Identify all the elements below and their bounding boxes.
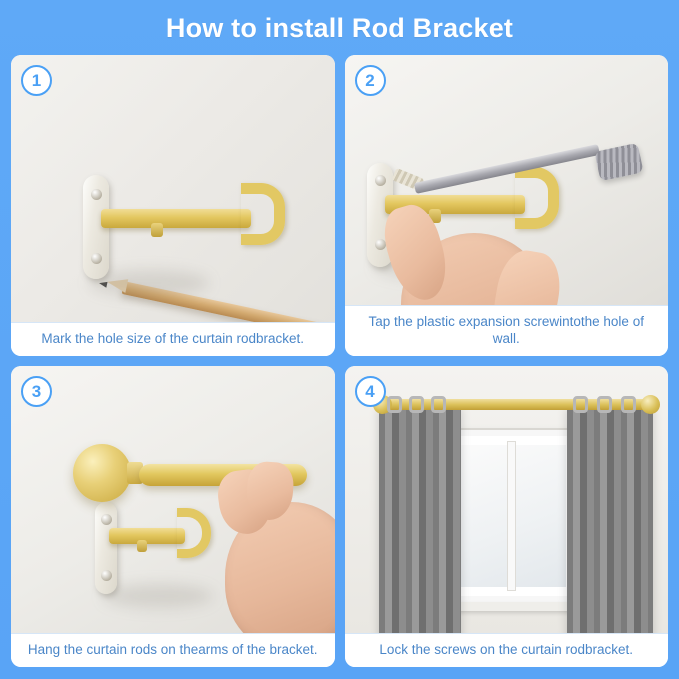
step-caption-4: Lock the screws on the curtain rodbracke…	[345, 633, 669, 667]
step-caption-1: Mark the hole size of the curtain rodbra…	[11, 322, 335, 356]
bracket-hook	[515, 167, 559, 229]
step-1-photo: 1	[11, 55, 335, 322]
bracket-screw-bottom	[375, 239, 386, 250]
finial-right	[641, 395, 660, 414]
instruction-poster: How to install Rod Bracket	[0, 0, 679, 679]
rod-bracket	[83, 165, 323, 305]
bracket-screw-bottom	[91, 253, 102, 264]
curtain-panel-right	[567, 404, 653, 633]
grommet	[573, 396, 588, 413]
bracket-arm	[101, 209, 251, 228]
page-title: How to install Rod Bracket	[0, 0, 679, 53]
grommet	[621, 396, 636, 413]
step-badge-4: 4	[355, 376, 386, 407]
rod-bracket	[95, 494, 235, 624]
step-card-4: 4 Lock the screws on the curtain rodbrac…	[345, 366, 669, 667]
bracket-arm	[109, 528, 185, 544]
step-3-photo: 3	[11, 366, 335, 633]
curtain-panel-left	[379, 404, 461, 633]
bracket-screw-bottom	[101, 570, 112, 581]
window-mullion	[508, 442, 515, 590]
bracket-screw-top	[91, 189, 102, 200]
step-caption-3: Hang the curtain rods on thearms of the …	[11, 633, 335, 667]
step-4-photo: 4	[345, 366, 669, 633]
step-caption-2: Tap the plastic expansion screwintothe h…	[345, 305, 669, 356]
step-card-1: 1 Mark the hole size of the curtain rodb…	[11, 55, 335, 356]
bracket-set-screw	[137, 540, 147, 552]
step-2-photo: 2	[345, 55, 669, 305]
step-badge-3: 3	[21, 376, 52, 407]
bracket-hook	[177, 508, 211, 558]
grommet	[431, 396, 446, 413]
grommet	[409, 396, 424, 413]
step-badge-2: 2	[355, 65, 386, 96]
step-badge-1: 1	[21, 65, 52, 96]
grommet	[387, 396, 402, 413]
step-card-3: 3 Hang the curtain rods on thearms of th…	[11, 366, 335, 667]
bracket-screw-top	[101, 514, 112, 525]
grommet	[597, 396, 612, 413]
window-frame	[441, 430, 581, 602]
steps-grid: 1 Mark the hole size of the curtain rodb…	[11, 55, 668, 667]
bracket-screw-top	[375, 175, 386, 186]
rod-ball-finial	[73, 444, 131, 502]
bracket-hook	[241, 183, 285, 245]
step-card-2: 2 Tap the plastic expansion screwintothe…	[345, 55, 669, 356]
bracket-set-screw	[151, 223, 163, 237]
